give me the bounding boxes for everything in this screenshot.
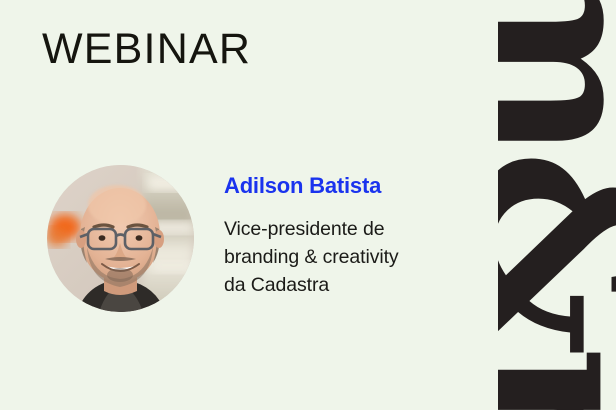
brand-logotype: m&m <box>498 0 616 410</box>
avatar <box>47 165 194 312</box>
speaker-role-line-1: Vice-presidente de <box>224 216 479 244</box>
avatar-photo <box>47 165 194 312</box>
speaker-name: Adilson Batista <box>224 173 479 199</box>
brand-logotype-text: m&m <box>498 0 616 410</box>
speaker-info: Adilson Batista Vice-presidente de brand… <box>224 173 479 299</box>
speaker-role: Vice-presidente de branding & creativity… <box>224 216 479 299</box>
page-title: WEBINAR <box>42 27 251 72</box>
speaker-role-line-3: da Cadastra <box>224 272 479 300</box>
speaker-role-line-2: branding & creativity <box>224 244 479 272</box>
webinar-promo-card: WEBINAR <box>0 0 616 410</box>
